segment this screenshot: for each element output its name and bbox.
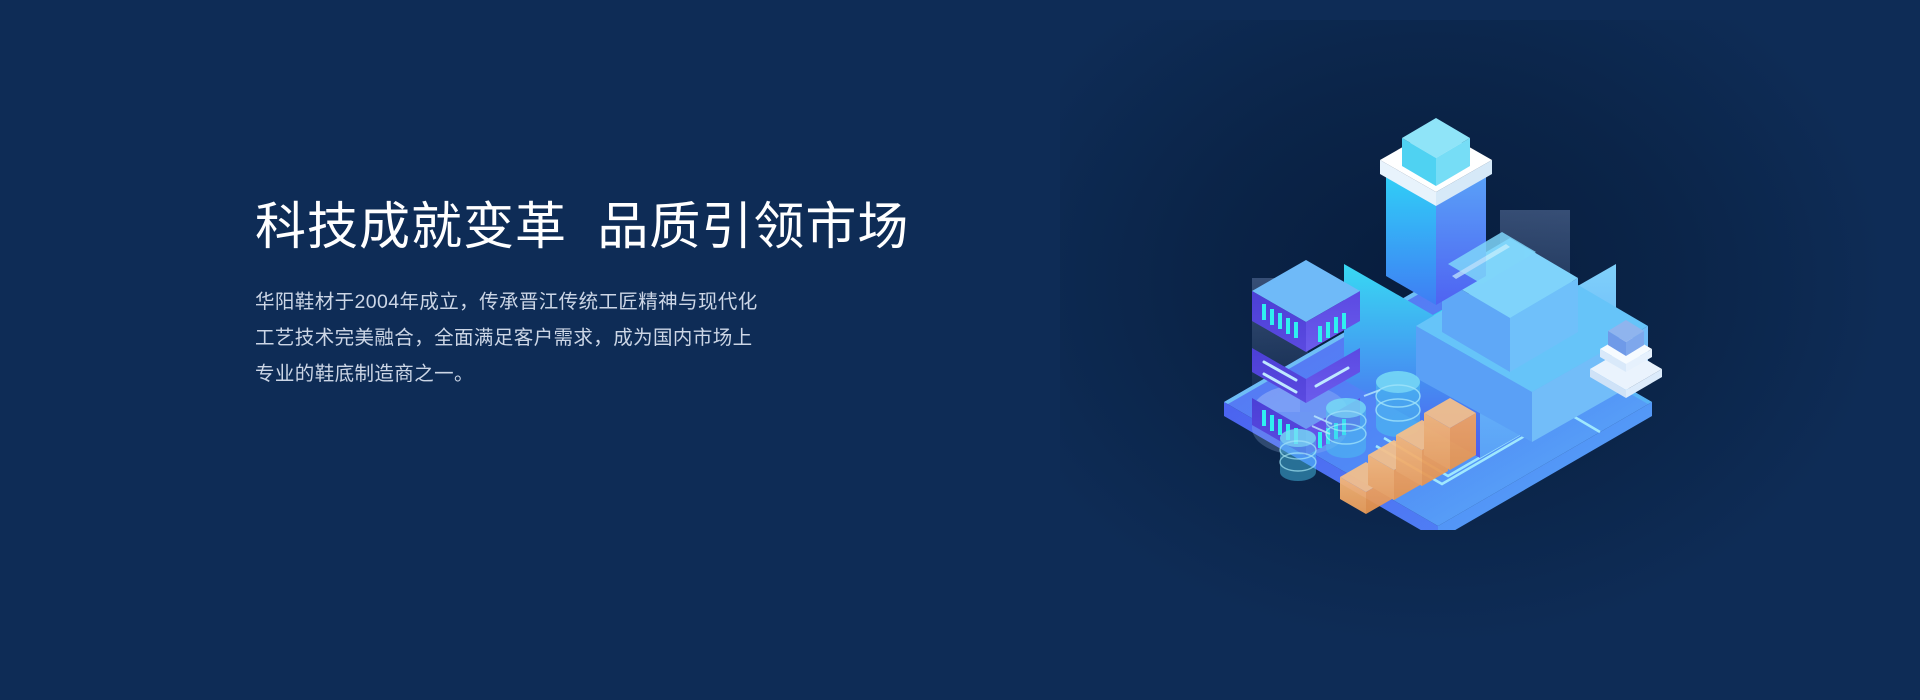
description-line-2: 工艺技术完美融合，全面满足客户需求，成为国内市场上 <box>255 320 1015 356</box>
isometric-tech-city-illustration <box>1180 90 1700 530</box>
hero-copy: 科技成就变革 品质引领市场 华阳鞋材于2004年成立，传承晋江传统工匠精神与现代… <box>255 196 1015 392</box>
bar-4 <box>1424 398 1476 470</box>
hero-banner: 科技成就变革 品质引领市场 华阳鞋材于2004年成立，传承晋江传统工匠精神与现代… <box>0 0 1920 700</box>
page-title: 科技成就变革 品质引领市场 <box>255 196 1015 258</box>
description-line-3: 专业的鞋底制造商之一。 <box>255 356 1015 392</box>
hero-description: 华阳鞋材于2004年成立，传承晋江传统工匠精神与现代化 工艺技术完美融合，全面满… <box>255 284 1015 392</box>
description-line-1: 华阳鞋材于2004年成立，传承晋江传统工匠精神与现代化 <box>255 284 1015 320</box>
